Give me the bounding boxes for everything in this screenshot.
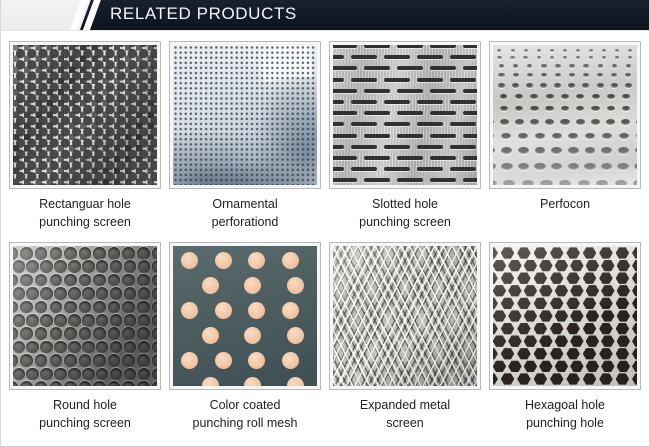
header-banner: RELATED PRODUCTS (63, 0, 649, 30)
product-caption-line1: Rectanguar hole (39, 197, 131, 211)
product-caption-line2: perforationd (169, 213, 321, 231)
product-row: Rectanguar hole punching screen Ornament… (9, 41, 641, 231)
product-card-expanded-metal-screen[interactable]: Expanded metal screen (329, 242, 481, 432)
product-caption: Expanded metal screen (329, 396, 481, 432)
product-caption-line2: punching screen (9, 414, 161, 432)
product-image-slotted-hole (333, 45, 477, 185)
product-caption-line2: screen (329, 414, 481, 432)
product-image-perfocon (493, 45, 637, 185)
product-caption-line1: Expanded metal (360, 398, 450, 412)
product-image-frame[interactable] (169, 242, 321, 390)
product-card-ornamental-perforation[interactable]: Ornamental perforationd (169, 41, 321, 231)
product-caption-line1: Color coated (210, 398, 281, 412)
product-card-round-hole-punching-screen[interactable]: Round hole punching screen (9, 242, 161, 432)
related-products-page: RELATED PRODUCTS Rectanguar hole punchin… (0, 0, 650, 447)
product-image-round-hole (13, 246, 157, 386)
product-caption: Rectanguar hole punching screen (9, 195, 161, 231)
product-grid: Rectanguar hole punching screen Ornament… (1, 31, 649, 432)
product-caption-line1: Perfocon (540, 197, 590, 211)
product-image-frame[interactable] (9, 242, 161, 390)
product-caption-line1: Hexagoal hole (525, 398, 605, 412)
product-image-ornamental-perforation (173, 45, 317, 185)
product-caption: Color coated punching roll mesh (169, 396, 321, 432)
product-card-rectangular-hole-punching-screen[interactable]: Rectanguar hole punching screen (9, 41, 161, 231)
product-row: Round hole punching screen Color coated … (9, 242, 641, 432)
product-caption-line2: punching roll mesh (169, 414, 321, 432)
product-image-color-coated (173, 246, 317, 386)
product-caption-line1: Round hole (53, 398, 117, 412)
product-image-expanded-metal (333, 246, 477, 386)
product-image-frame[interactable] (489, 41, 641, 189)
product-caption-line1: Slotted hole (372, 197, 438, 211)
product-image-frame[interactable] (329, 242, 481, 390)
product-caption-line1: Ornamental (212, 197, 277, 211)
product-card-hexagonal-hole-punching-hole[interactable]: Hexagoal hole punching hole (489, 242, 641, 432)
product-caption-line2: punching screen (9, 213, 161, 231)
section-header: RELATED PRODUCTS (1, 0, 649, 31)
product-image-frame[interactable] (169, 41, 321, 189)
product-card-color-coated-punching-roll-mesh[interactable]: Color coated punching roll mesh (169, 242, 321, 432)
product-card-slotted-hole-punching-screen[interactable]: Slotted hole punching screen (329, 41, 481, 231)
product-image-rectangular-hole (13, 45, 157, 185)
product-image-frame[interactable] (329, 41, 481, 189)
product-caption-line2: punching screen (329, 213, 481, 231)
product-caption-line2: punching hole (489, 414, 641, 432)
product-card-perfocon[interactable]: Perfocon (489, 41, 641, 231)
product-image-hexagonal-hole (493, 246, 637, 386)
product-caption: Hexagoal hole punching hole (489, 396, 641, 432)
product-image-frame[interactable] (489, 242, 641, 390)
product-caption: Slotted hole punching screen (329, 195, 481, 231)
product-caption: Round hole punching screen (9, 396, 161, 432)
page-title: RELATED PRODUCTS (110, 4, 297, 24)
product-image-frame[interactable] (9, 41, 161, 189)
product-caption: Ornamental perforationd (169, 195, 321, 231)
product-caption: Perfocon (489, 195, 641, 213)
